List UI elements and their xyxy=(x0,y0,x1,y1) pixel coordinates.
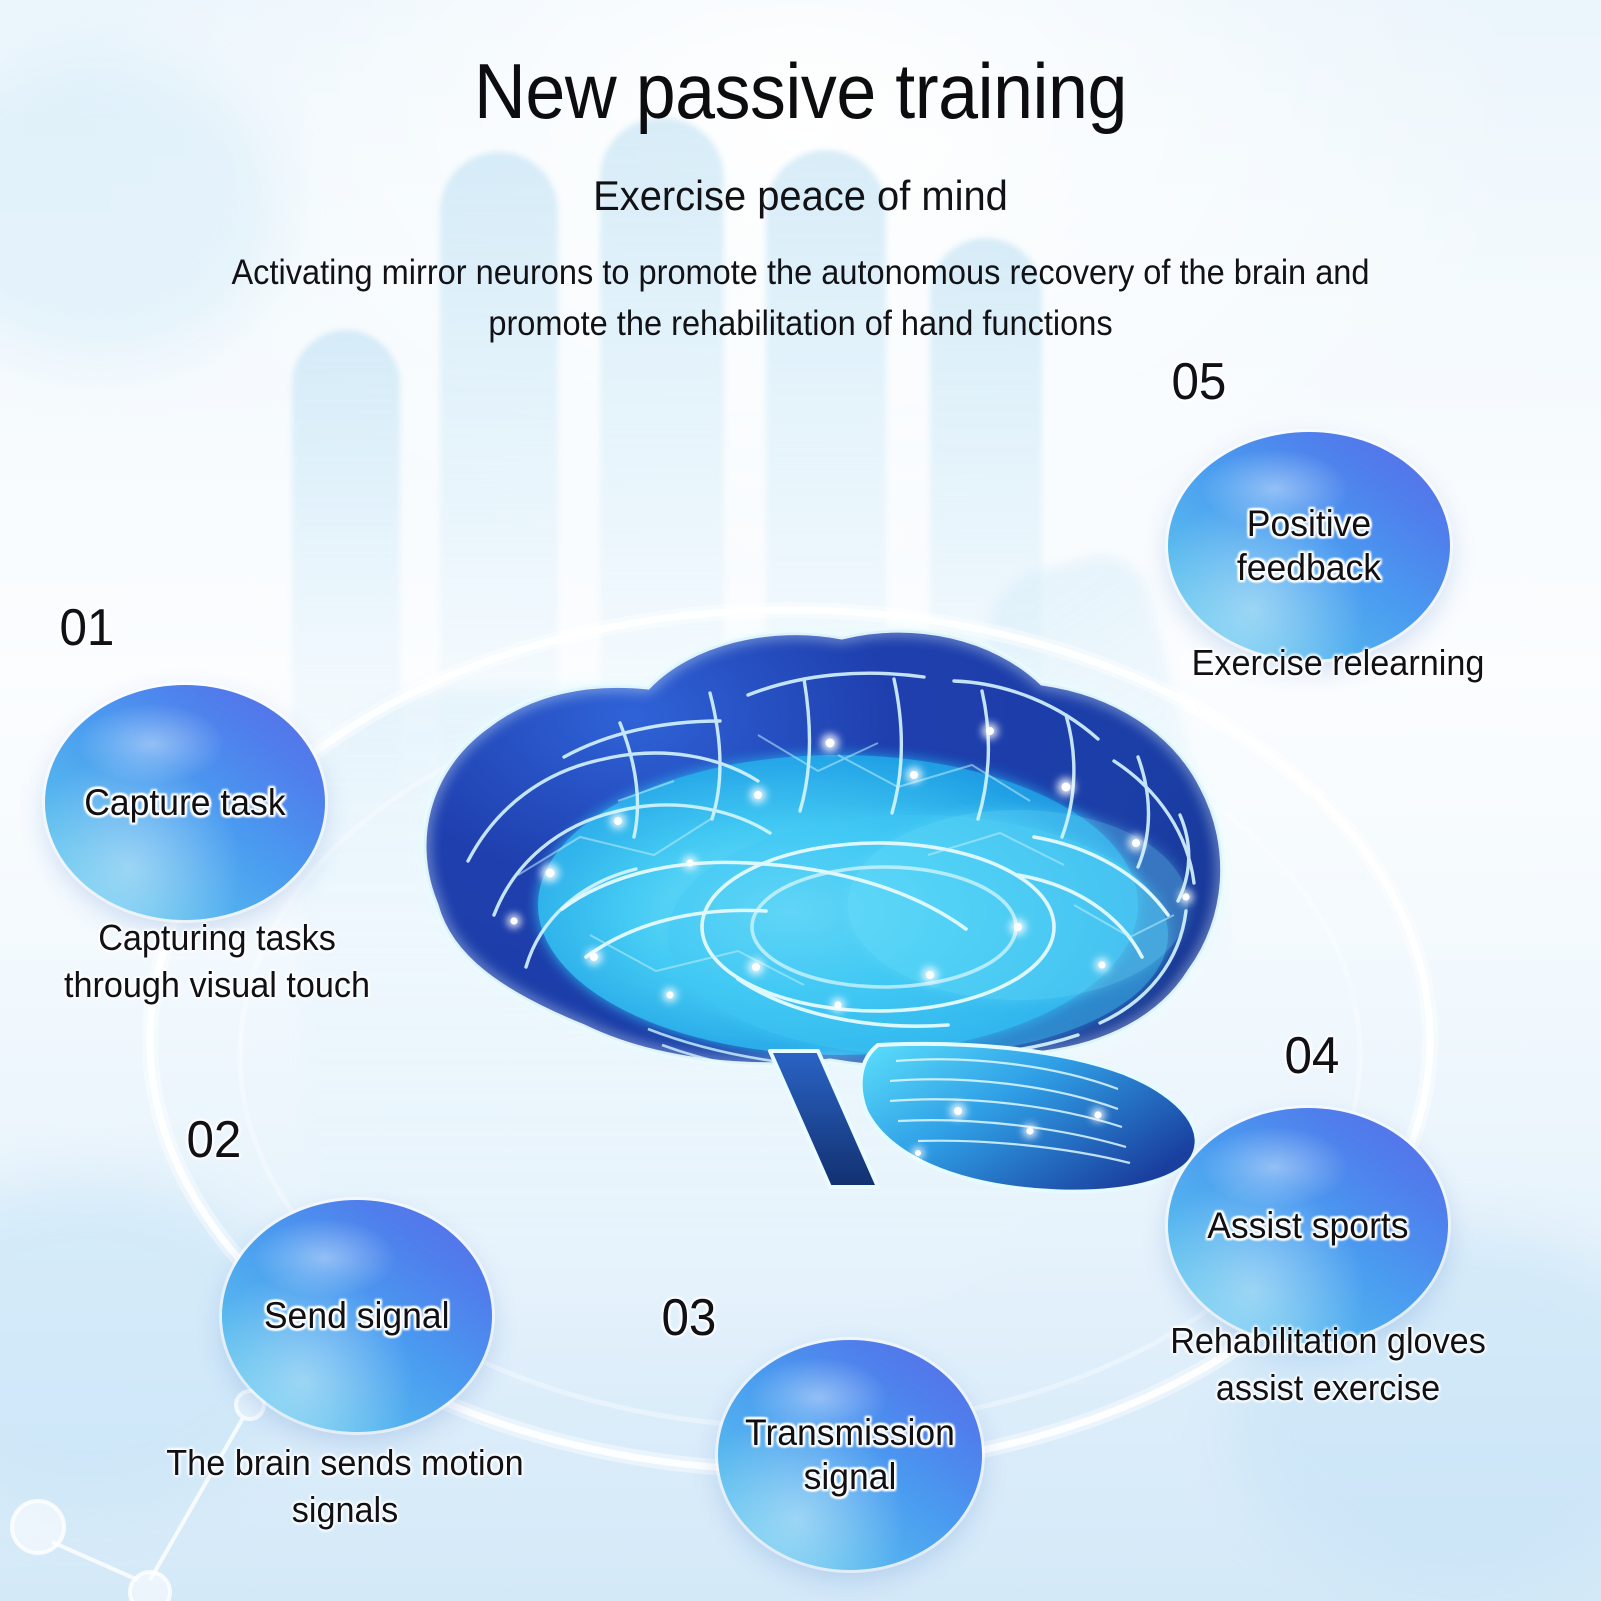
step-bubble-label-01: Capture task xyxy=(75,781,296,825)
step-bubble-positive-feedback[interactable]: Positive feedback xyxy=(1168,432,1450,660)
step-caption-02: The brain sends motion signals xyxy=(131,1440,559,1534)
step-bubble-label-04: Assist sports xyxy=(1198,1204,1419,1248)
step-bubble-label-05: Positive feedback xyxy=(1174,502,1445,589)
step-caption-04: Rehabilitation gloves assist exercise xyxy=(1129,1318,1528,1412)
step-number-04: 04 xyxy=(1284,1026,1339,1086)
step-number-03: 03 xyxy=(661,1288,716,1348)
step-number-02: 02 xyxy=(186,1110,241,1170)
step-bubble-transmission-signal[interactable]: Transmission signal xyxy=(718,1340,982,1570)
infographic-poster: New passive training Exercise peace of m… xyxy=(0,0,1601,1601)
step-bubble-label-02: Send signal xyxy=(255,1294,460,1338)
step-caption-01: Capturing tasks through visual touch xyxy=(41,915,393,1009)
page-description: Activating mirror neurons to promote the… xyxy=(186,248,1415,350)
step-bubble-label-03: Transmission signal xyxy=(723,1411,976,1498)
step-caption-05: Exercise relearning xyxy=(1158,640,1519,687)
step-number-05: 05 xyxy=(1171,352,1226,412)
step-bubble-assist-sports[interactable]: Assist sports xyxy=(1168,1108,1448,1343)
page-title: New passive training xyxy=(64,52,1537,130)
step-bubble-send-signal[interactable]: Send signal xyxy=(222,1200,492,1432)
step-bubble-capture-task[interactable]: Capture task xyxy=(45,685,325,920)
brain-illustration xyxy=(318,575,1298,1215)
page-subtitle: Exercise peace of mind xyxy=(40,172,1561,220)
step-number-01: 01 xyxy=(59,598,114,658)
